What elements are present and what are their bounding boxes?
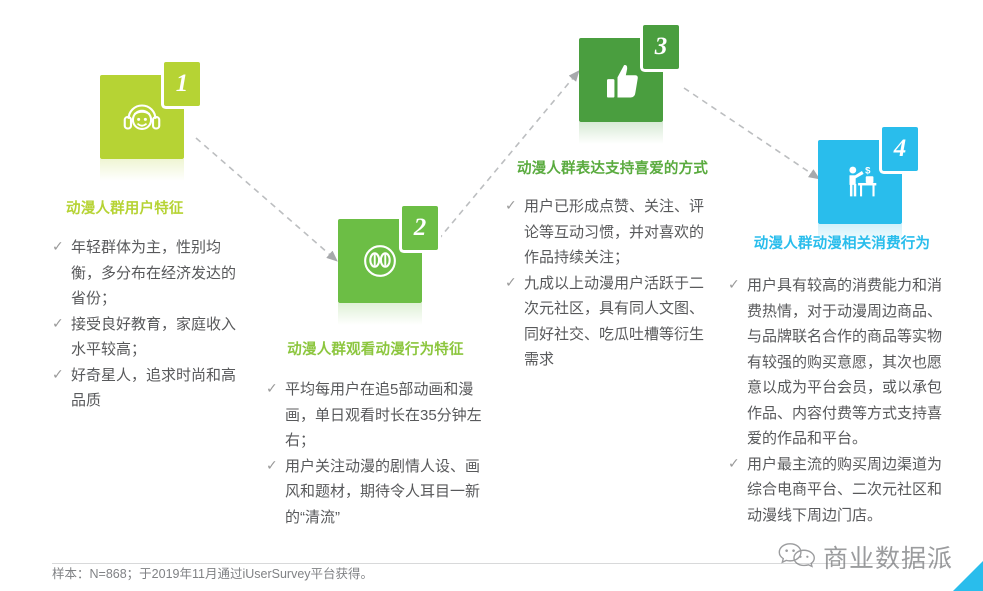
wechat-bubbles-icon xyxy=(778,540,816,575)
check-icon: ✓ xyxy=(505,195,518,215)
step-4-bullet-2: 用户最主流的购买周边渠道为综合电商平台、二次元社区和动漫线下周边门店。 xyxy=(747,456,942,524)
list-item: ✓ 用户关注动漫的剧情人设、画风和题材，期待令人耳目一新的“清流” xyxy=(266,454,486,531)
list-item: ✓ 九成以上动漫用户活跃于二次元社区，具有同人文图、同好社交、吃瓜吐槽等衍生需求 xyxy=(505,271,718,373)
step-1-tile-reflection xyxy=(100,159,184,181)
step-2-bullet-1: 平均每用户在追5部动画和漫画，单日观看时长在35分钟左右； xyxy=(285,381,482,449)
check-icon: ✓ xyxy=(52,364,65,384)
step-1-bullet-1: 年轻群体为主，性别均衡，多分布在经济发达的省份； xyxy=(71,239,236,307)
step-1-bullet-list: ✓ 年轻群体为主，性别均衡，多分布在经济发达的省份； ✓ 接受良好教育，家庭收入… xyxy=(52,235,247,414)
step-4-badge: 4 xyxy=(882,127,918,171)
step-1-bullet-2: 接受良好教育，家庭收入水平较高； xyxy=(71,316,236,359)
step-3-bullet-list: ✓ 用户已形成点赞、关注、评论等互动习惯，并对喜欢的作品持续关注； ✓ 九成以上… xyxy=(505,194,718,373)
list-item: ✓ 年轻群体为主，性别均衡，多分布在经济发达的省份； xyxy=(52,235,247,312)
watermark-label: 商业数据派 xyxy=(823,539,953,575)
check-icon: ✓ xyxy=(505,272,518,292)
infographic-canvas: 1 动漫人群用户特征 ✓ 年轻群体为主，性别均衡，多分布在经济发达的省份； ✓ … xyxy=(0,0,983,591)
step-1-badge: 1 xyxy=(164,62,200,106)
list-item: ✓ 接受良好教育，家庭收入水平较高； xyxy=(52,312,247,363)
step-2-badge: 2 xyxy=(402,206,438,250)
step-3-bullet-2: 九成以上动漫用户活跃于二次元社区，具有同人文图、同好社交、吃瓜吐槽等衍生需求 xyxy=(524,275,704,369)
sample-footnote: 样本：N=868；于2019年11月通过iUserSurvey平台获得。 xyxy=(52,565,373,583)
step-2-title: 动漫人群观看动漫行为特征 xyxy=(268,341,483,360)
step-4-title: 动漫人群动漫相关消费行为 xyxy=(734,235,950,254)
check-icon: ✓ xyxy=(266,455,279,475)
check-icon: ✓ xyxy=(266,378,279,398)
list-item: ✓ 平均每用户在追5部动画和漫画，单日观看时长在35分钟左右； xyxy=(266,377,486,454)
step-1-title: 动漫人群用户特征 xyxy=(66,200,251,219)
step-1-bullet-3: 好奇星人，追求时尚和高品质 xyxy=(71,367,236,410)
corner-accent-triangle xyxy=(953,561,983,591)
check-icon: ✓ xyxy=(728,453,741,473)
step-4-bullet-list: ✓ 用户具有较高的消费能力和消费热情，对于动漫周边商品、与品牌联名合作的商品等实… xyxy=(728,273,950,528)
step-2-bullet-2: 用户关注动漫的剧情人设、画风和题材，期待令人耳目一新的“清流” xyxy=(285,458,480,526)
check-icon: ✓ xyxy=(728,274,741,294)
list-item: ✓ 用户已形成点赞、关注、评论等互动习惯，并对喜欢的作品持续关注； xyxy=(505,194,718,271)
watermark: 商业数据派 xyxy=(778,539,953,575)
svg-text:$: $ xyxy=(865,165,871,176)
list-item: ✓ 好奇星人，追求时尚和高品质 xyxy=(52,363,247,414)
step-2-bullet-list: ✓ 平均每用户在追5部动画和漫画，单日观看时长在35分钟左右； ✓ 用户关注动漫… xyxy=(266,377,486,530)
list-item: ✓ 用户最主流的购买周边渠道为综合电商平台、二次元社区和动漫线下周边门店。 xyxy=(728,452,950,529)
check-icon: ✓ xyxy=(52,313,65,333)
step-2-tile-reflection xyxy=(338,303,422,325)
list-item: ✓ 用户具有较高的消费能力和消费热情，对于动漫周边商品、与品牌联名合作的商品等实… xyxy=(728,273,950,452)
step-4-bullet-1: 用户具有较高的消费能力和消费热情，对于动漫周边商品、与品牌联名合作的商品等实物有… xyxy=(747,277,942,447)
step-3-bullet-1: 用户已形成点赞、关注、评论等互动习惯，并对喜欢的作品持续关注； xyxy=(524,198,704,266)
step-3-title: 动漫人群表达支持喜爱的方式 xyxy=(510,160,715,179)
check-icon: ✓ xyxy=(52,236,65,256)
step-3-badge: 3 xyxy=(643,25,679,69)
step-3-tile-reflection xyxy=(579,122,663,144)
